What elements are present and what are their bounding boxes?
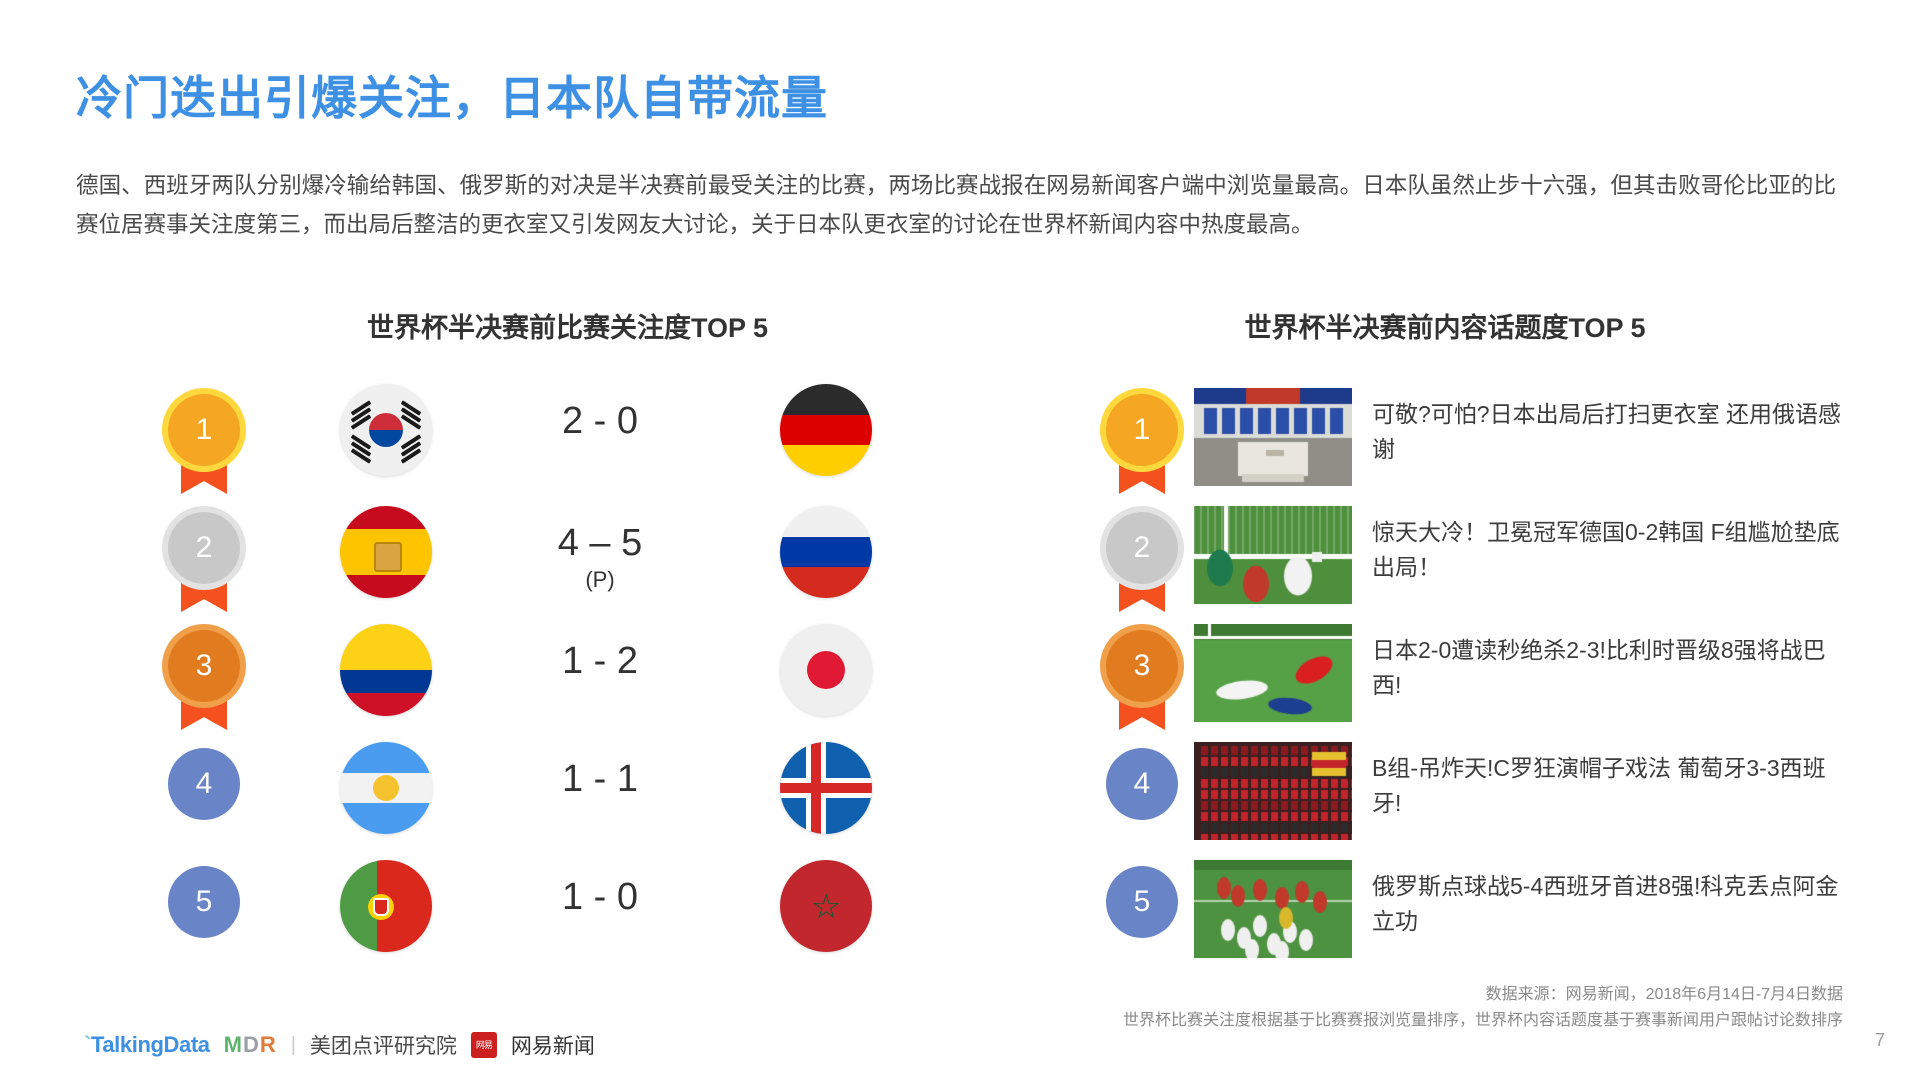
korea-flag-icon (340, 384, 432, 476)
score-value: 1 - 2 (562, 640, 638, 682)
medal-icon-bronze: 3 (168, 630, 240, 702)
page-title: 冷门迭出引爆关注，日本队自带流量 (76, 62, 828, 128)
rank-badge-2: 2 (168, 512, 240, 584)
topic-rank-badge-4: 4 (1106, 748, 1178, 820)
netease-news-logo: 网易新闻 (511, 1030, 595, 1060)
medal-icon-silver: 2 (1106, 512, 1178, 584)
score-note: (P) (490, 567, 710, 593)
topic-thumbnail-5[interactable] (1194, 860, 1352, 958)
page-number: 7 (1875, 1030, 1885, 1051)
germany-flag-icon (780, 384, 872, 476)
russia-flag-icon (780, 506, 872, 598)
page-description: 德国、西班牙两队分别爆冷输给韩国、俄罗斯的对决是半决赛前最受关注的比赛，两场比赛… (76, 166, 1836, 244)
topic-headline-1[interactable]: 可敬?可怕?日本出局后打扫更衣室 还用俄语感谢 (1372, 397, 1842, 467)
rank-badge-1: 1 (168, 394, 240, 466)
score-value: 1 - 1 (562, 758, 638, 800)
iceland-flag-icon (780, 742, 872, 834)
footnote: 数据来源：网易新闻，2018年6月14日-7月4日数据 世界杯比赛关注度根据基于… (663, 982, 1843, 1034)
medal-icon-bronze: 3 (1106, 630, 1178, 702)
score-value: 4 – 5 (558, 522, 643, 564)
rank-badge-5: 5 (168, 866, 240, 938)
topic-rank-badge-2: 2 (1106, 512, 1178, 584)
logo-divider: | (291, 1034, 296, 1057)
rank-circle-4: 4 (168, 748, 240, 820)
score-value: 1 - 0 (562, 876, 638, 918)
meituan-research-logo: 美团点评研究院 (310, 1030, 457, 1060)
topic-thumbnail-3[interactable] (1194, 624, 1352, 722)
topic-headline-5[interactable]: 俄罗斯点球战5-4西班牙首进8强!科克丢点阿金立功 (1372, 869, 1842, 939)
rank-circle-5: 5 (168, 866, 240, 938)
left-section-heading: 世界杯半决赛前比赛关注度TOP 5 (285, 306, 850, 345)
logo-bar: `TalkingData MDR | 美团点评研究院 网易 网易新闻 (84, 1030, 595, 1060)
topic-headline-4[interactable]: B组-吊炸天!C罗狂演帽子戏法 葡萄牙3-3西班牙! (1372, 751, 1842, 821)
topic-rank-badge-5: 5 (1106, 866, 1178, 938)
match-score-2: 4 – 5 (P) (490, 522, 710, 593)
match-score-5: 1 - 0 (490, 876, 710, 919)
medal-icon-gold: 1 (1106, 394, 1178, 466)
right-section-heading: 世界杯半决赛前内容话题度TOP 5 (1140, 306, 1750, 345)
topic-rank-badge-3: 3 (1106, 630, 1178, 702)
morocco-flag-icon: ☆ (780, 860, 872, 952)
netease-badge-icon: 网易 (471, 1032, 497, 1058)
topic-headline-2[interactable]: 惊天大冷！卫冕冠军德国0-2韩国 F组尴尬垫底出局！ (1372, 515, 1842, 585)
japan-flag-icon (780, 624, 872, 716)
topic-thumbnail-2[interactable] (1194, 506, 1352, 604)
medal-icon-silver: 2 (168, 512, 240, 584)
colombia-flag-icon (340, 624, 432, 716)
spain-flag-icon (340, 506, 432, 598)
mdr-logo: MDR (224, 1032, 277, 1058)
footnote-source: 数据来源：网易新闻，2018年6月14日-7月4日数据 (663, 982, 1843, 1008)
medal-icon-gold: 1 (168, 394, 240, 466)
match-score-4: 1 - 1 (490, 758, 710, 801)
rank-badge-4: 4 (168, 748, 240, 820)
match-score-3: 1 - 2 (490, 640, 710, 683)
rank-badge-3: 3 (168, 630, 240, 702)
topic-headline-3[interactable]: 日本2-0遭读秒绝杀2-3!比利时晋级8强将战巴西! (1372, 633, 1842, 703)
talkingdata-logo: `TalkingData (84, 1032, 210, 1058)
score-value: 2 - 0 (562, 400, 638, 442)
topic-rank-badge-1: 1 (1106, 394, 1178, 466)
topic-thumbnail-4[interactable] (1194, 742, 1352, 840)
rank-circle-5: 5 (1106, 866, 1178, 938)
argentina-flag-icon (340, 742, 432, 834)
rank-circle-4: 4 (1106, 748, 1178, 820)
portugal-flag-icon (340, 860, 432, 952)
topic-thumbnail-1[interactable] (1194, 388, 1352, 486)
footnote-method: 世界杯比赛关注度根据基于比赛赛报浏览量排序，世界杯内容话题度基于赛事新闻用户跟帖… (663, 1008, 1843, 1034)
match-score-1: 2 - 0 (490, 400, 710, 443)
